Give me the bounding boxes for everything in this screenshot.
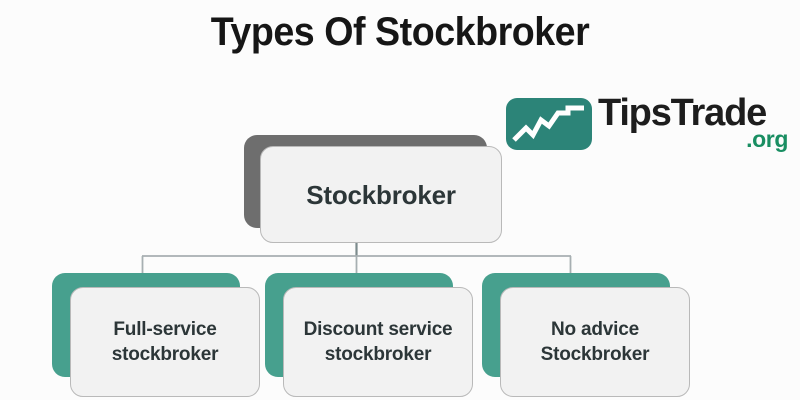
- line-chart-logo-icon: [506, 98, 592, 150]
- node-card[interactable]: Discount service stockbroker: [283, 287, 473, 397]
- node-card[interactable]: Full-service stockbroker: [70, 287, 260, 397]
- brand-wordmark: TipsTrade .org: [598, 92, 792, 158]
- page-title: Types Of Stockbroker: [24, 8, 776, 56]
- node-no-advice-stockbroker[interactable]: No advice Stockbroker: [482, 273, 690, 397]
- diagram-canvas: Types Of Stockbroker TipsTrade .org Stoc…: [0, 0, 800, 400]
- node-card[interactable]: No advice Stockbroker: [500, 287, 690, 397]
- node-label: Stockbroker: [306, 180, 456, 210]
- node-label: No advice Stockbroker: [509, 317, 681, 367]
- brand-logo[interactable]: TipsTrade .org: [506, 92, 792, 158]
- node-card[interactable]: Stockbroker: [260, 146, 502, 243]
- node-full-service-stockbroker[interactable]: Full-service stockbroker: [52, 273, 260, 397]
- node-stockbroker[interactable]: Stockbroker: [244, 135, 502, 245]
- node-label: Full-service stockbroker: [79, 317, 251, 367]
- node-label: Discount service stockbroker: [292, 317, 464, 367]
- node-discount-service-stockbroker[interactable]: Discount service stockbroker: [265, 273, 473, 397]
- brand-tld: .org: [746, 126, 788, 152]
- brand-name: TipsTrade: [598, 92, 766, 134]
